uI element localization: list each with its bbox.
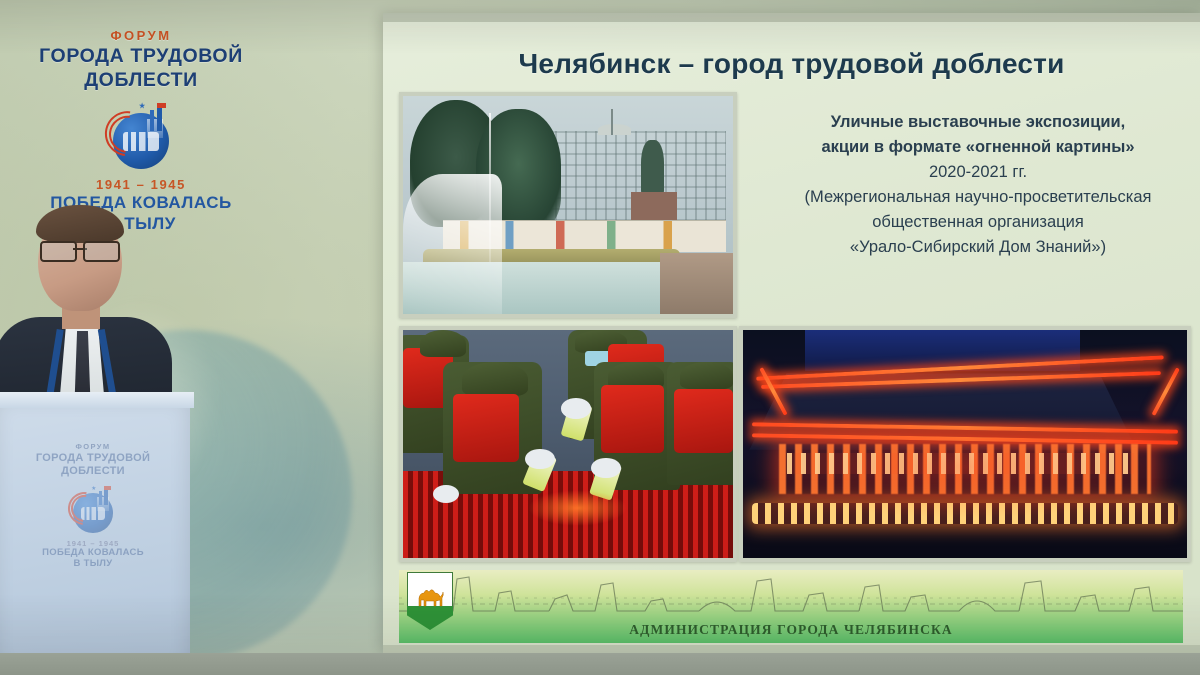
video-frame: ФОРУМ ГОРОДА ТРУДОВОЙ ДОБЛЕСТИ 1941 – 19… — [0, 0, 1200, 675]
frame-vignette — [0, 0, 1200, 675]
frame-bottom-strip — [0, 653, 1200, 675]
